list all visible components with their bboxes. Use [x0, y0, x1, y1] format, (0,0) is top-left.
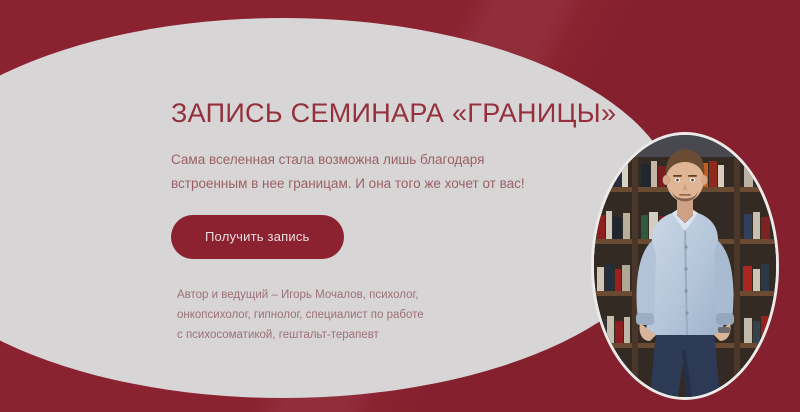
hero-content: ЗАПИСЬ СЕМИНАРА «ГРАНИЦЫ» Сама вселенная…	[171, 96, 571, 345]
hero-subhead-line-2: встроенным в нее границам. И она того же…	[171, 176, 525, 191]
author-credit-line-1: Автор и ведущий – Игорь Мочалов, психоло…	[177, 289, 419, 301]
hero-subhead-line-1: Сама вселенная стала возможна лишь благо…	[171, 152, 484, 167]
hero-banner: ЗАПИСЬ СЕМИНАРА «ГРАНИЦЫ» Сама вселенная…	[0, 0, 800, 412]
hero-subhead: Сама вселенная стала возможна лишь благо…	[171, 148, 543, 196]
get-recording-button[interactable]: Получить запись	[171, 215, 344, 259]
page-title: ЗАПИСЬ СЕМИНАРА «ГРАНИЦЫ»	[171, 96, 571, 130]
author-credit-line-2: онкопсихолог, гипнолог, специалист по ра…	[177, 309, 424, 321]
speaker-portrait-image	[594, 135, 776, 397]
speaker-portrait	[594, 135, 776, 397]
author-credit: Автор и ведущий – Игорь Мочалов, психоло…	[177, 285, 477, 345]
author-credit-line-3: с психосоматикой, гештальт-терапевт	[177, 329, 379, 341]
